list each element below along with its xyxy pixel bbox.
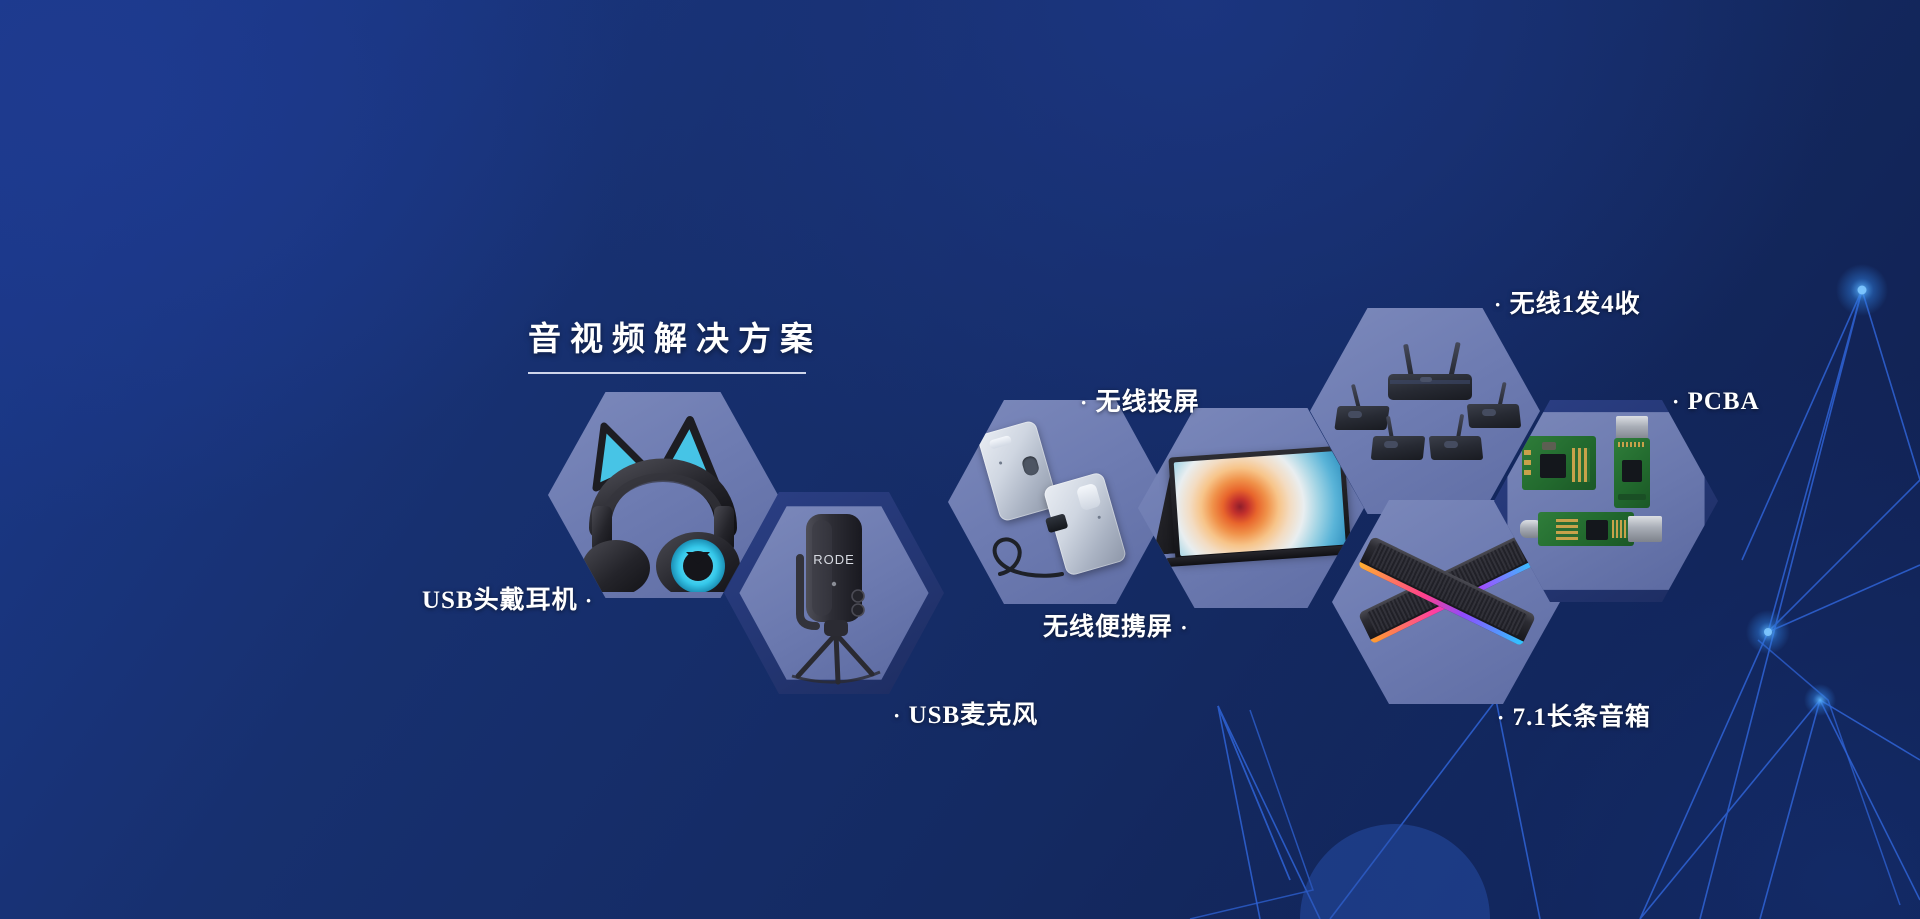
label-text: PCBA (1688, 388, 1760, 415)
label-text: 无线1发4收 (1510, 291, 1641, 318)
label-text: 7.1长条音箱 (1513, 704, 1651, 731)
label-text: 无线投屏 (1096, 389, 1200, 416)
label-wireless-1t4r: · 无线1发4收 (1494, 284, 1641, 320)
monitor-screen (1174, 451, 1346, 556)
cat-ear-headphones-icon (570, 402, 756, 592)
label-text: USB麦克风 (909, 702, 1039, 729)
label-text: USB头戴耳机 (422, 587, 578, 614)
condenser-microphone-icon: RODE (776, 506, 896, 686)
page-title-block: 音视频解决方案 (528, 312, 822, 374)
bullet-marker: · (1180, 615, 1188, 640)
label-usb-headset: USB头戴耳机 · (422, 580, 593, 616)
transmitter-unit (977, 419, 1059, 522)
portable-monitor-icon (1152, 445, 1351, 568)
bullet-marker: · (1494, 292, 1502, 317)
bullet-marker: · (1497, 705, 1505, 730)
pcb-module (1614, 416, 1650, 508)
audio-video-solution-banner: 音视频解决方案 (0, 0, 1920, 919)
page-title: 音视频解决方案 (528, 312, 822, 360)
bullet-marker: · (585, 588, 593, 613)
svg-text:RODE: RODE (813, 552, 855, 567)
pcb-module (1520, 512, 1662, 546)
label-pcba: · PCBA (1672, 388, 1760, 416)
label-usb-microphone: · USB麦克风 (893, 695, 1038, 731)
pcb-module (1522, 436, 1596, 490)
label-portable-monitor: 无线便携屏 · (1043, 607, 1189, 643)
title-underline (528, 372, 806, 374)
bullet-marker: · (1080, 390, 1088, 415)
label-wireless-screencast: · 无线投屏 (1080, 382, 1200, 418)
bullet-marker: · (893, 703, 901, 728)
label-soundbar: · 7.1长条音箱 (1497, 697, 1651, 733)
label-text: 无线便携屏 (1043, 614, 1173, 641)
bullet-marker: · (1672, 389, 1680, 414)
